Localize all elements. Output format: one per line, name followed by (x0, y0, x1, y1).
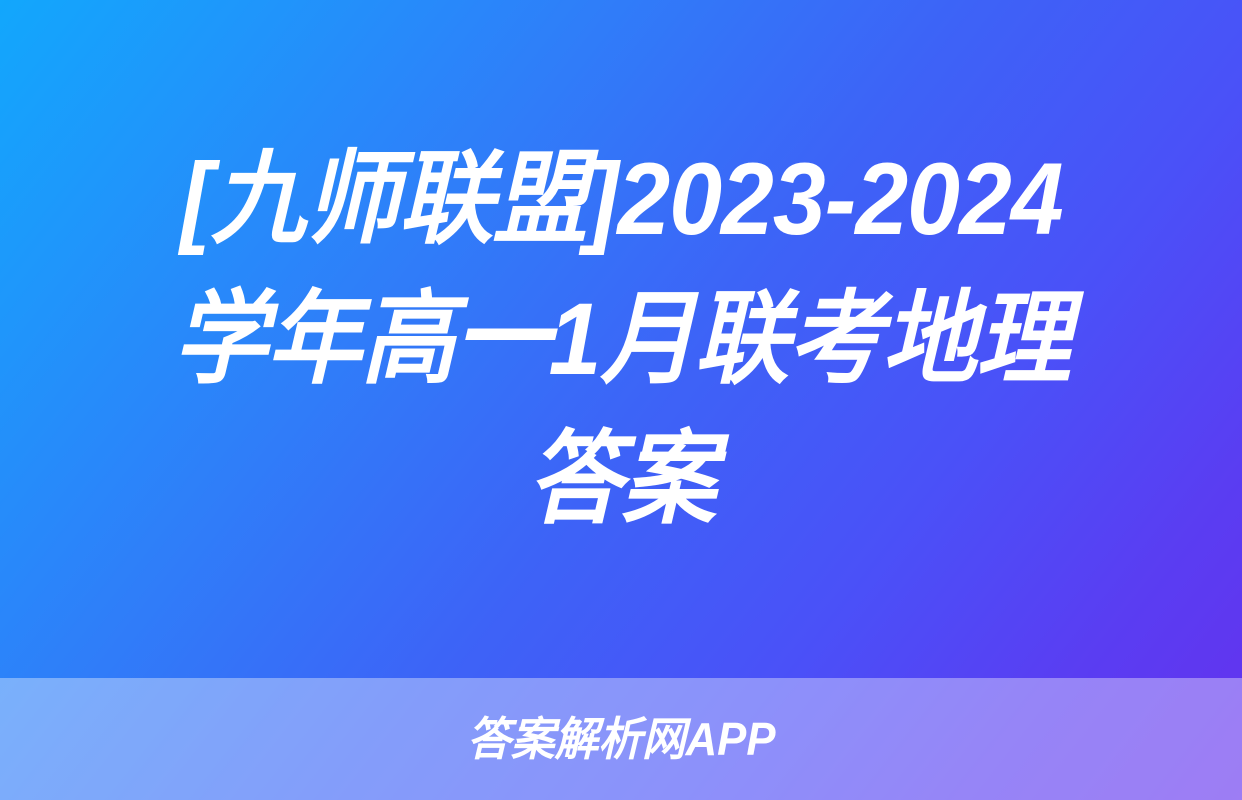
title-area: [九师联盟]2023-2024学年高一1月联考地理答案 (0, 0, 1242, 678)
footer-brand-label: 答案解析网APP (467, 716, 775, 762)
page-title: [九师联盟]2023-2024学年高一1月联考地理答案 (149, 129, 1093, 549)
answer-cover-banner: [九师联盟]2023-2024学年高一1月联考地理答案 答案解析网APP (0, 0, 1242, 800)
footer-brand-band: 答案解析网APP (0, 678, 1242, 800)
